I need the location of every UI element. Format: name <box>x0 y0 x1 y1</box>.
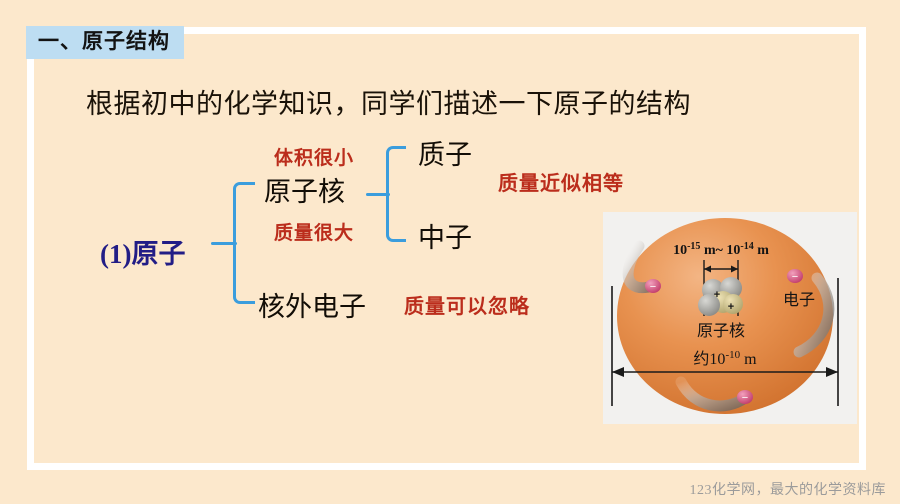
brace-sub <box>386 146 406 242</box>
nucleus-size-exp-1: -15 <box>687 241 700 252</box>
atom-illustration: − − − 10-15 m~ 10-14 m + <box>603 212 857 424</box>
slide-canvas: 一、原子结构 根据初中的化学知识，同学们描述一下原子的结构 (1)原子 原子核 … <box>0 0 900 504</box>
atom-size-prefix: 约10 <box>693 350 725 368</box>
electron-caption: 电子 <box>783 291 815 309</box>
atom-arrow-left <box>612 367 624 377</box>
diagram-root-atom: (1)原子 <box>100 232 185 271</box>
electron-charge-2: − <box>792 271 798 283</box>
electron-charge-3: − <box>742 392 748 404</box>
diagram-node-proton: 质子 <box>418 133 472 172</box>
nucleus-caption: 原子核 <box>697 322 745 340</box>
atom-size-exp: -10 <box>725 349 740 361</box>
brace-main <box>233 182 255 304</box>
nucleus-size-exp-2: -14 <box>740 241 753 252</box>
annotation-big-mass: 质量很大 <box>274 218 354 245</box>
watermark: 123化学网，最大的化学资料库 <box>690 479 887 499</box>
nucleus-size-mid: m~ 10 <box>700 243 740 258</box>
nucleus-size-base: 10 <box>673 243 687 258</box>
proton-charge-2: + <box>728 301 734 313</box>
annotation-similar-mass: 质量近似相等 <box>498 167 624 196</box>
proton-charge-1: + <box>714 289 720 301</box>
atom-size-unit: m <box>740 351 757 368</box>
diagram-node-neutron: 中子 <box>418 216 472 255</box>
electron-charge-1: − <box>650 281 656 293</box>
atom-arrow-right <box>826 367 838 377</box>
annotation-small-volume: 体积很小 <box>274 143 354 170</box>
annotation-negligible-mass: 质量可以忽略 <box>404 290 530 319</box>
atom-size-label: 约10-10 m <box>693 349 757 368</box>
diagram-node-outer-electron: 核外电子 <box>258 285 366 324</box>
diagram-node-nucleus: 原子核 <box>264 170 345 209</box>
nucleus-cluster: + + <box>698 277 743 316</box>
atom-illustration-svg: − − − 10-15 m~ 10-14 m + <box>603 212 857 424</box>
nucleus-size-unit: m <box>754 243 770 258</box>
section-title: 一、原子结构 <box>26 26 184 59</box>
lead-sentence: 根据初中的化学知识，同学们描述一下原子的结构 <box>86 82 691 121</box>
